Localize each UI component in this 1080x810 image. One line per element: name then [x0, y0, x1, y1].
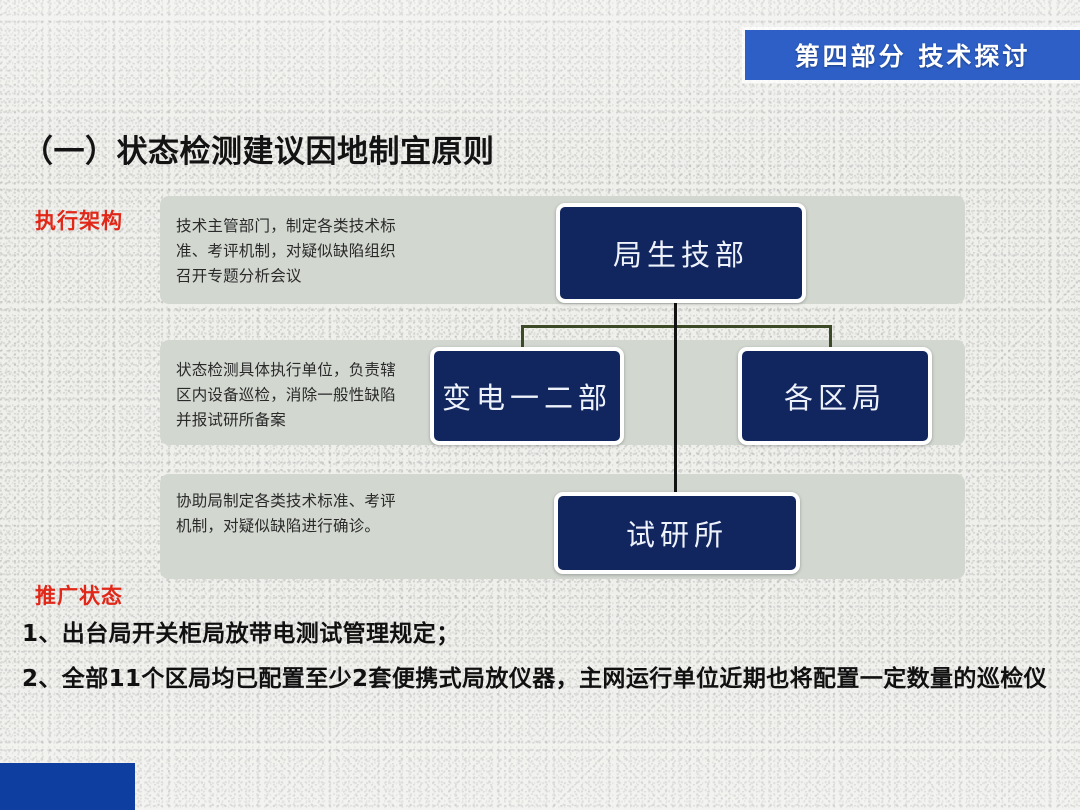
slide-canvas: 第四部分 技术探讨 （一）状态检测建议因地制宜原则 执行架构 推广状态 技术主管… — [0, 0, 1080, 810]
section-banner: 第四部分 技术探讨 — [745, 30, 1080, 80]
page-title: （一）状态检测建议因地制宜原则 — [22, 126, 495, 171]
list-item: 2、全部11个区局均已配置至少2套便携式局放仪器，主网运行单位近期也将配置一定数… — [22, 657, 1067, 702]
section-banner-label: 第四部分 技术探讨 — [745, 37, 1080, 73]
footer-accent-bar — [0, 763, 135, 810]
promotion-status-list: 1、出台局开关柜局放带电测试管理规定； 2、全部11个区局均已配置至少2套便携式… — [22, 612, 1067, 702]
label-promotion-status: 推广状态 — [35, 580, 123, 610]
list-item: 1、出台局开关柜局放带电测试管理规定； — [22, 612, 1067, 657]
label-execution-structure: 执行架构 — [35, 205, 123, 235]
